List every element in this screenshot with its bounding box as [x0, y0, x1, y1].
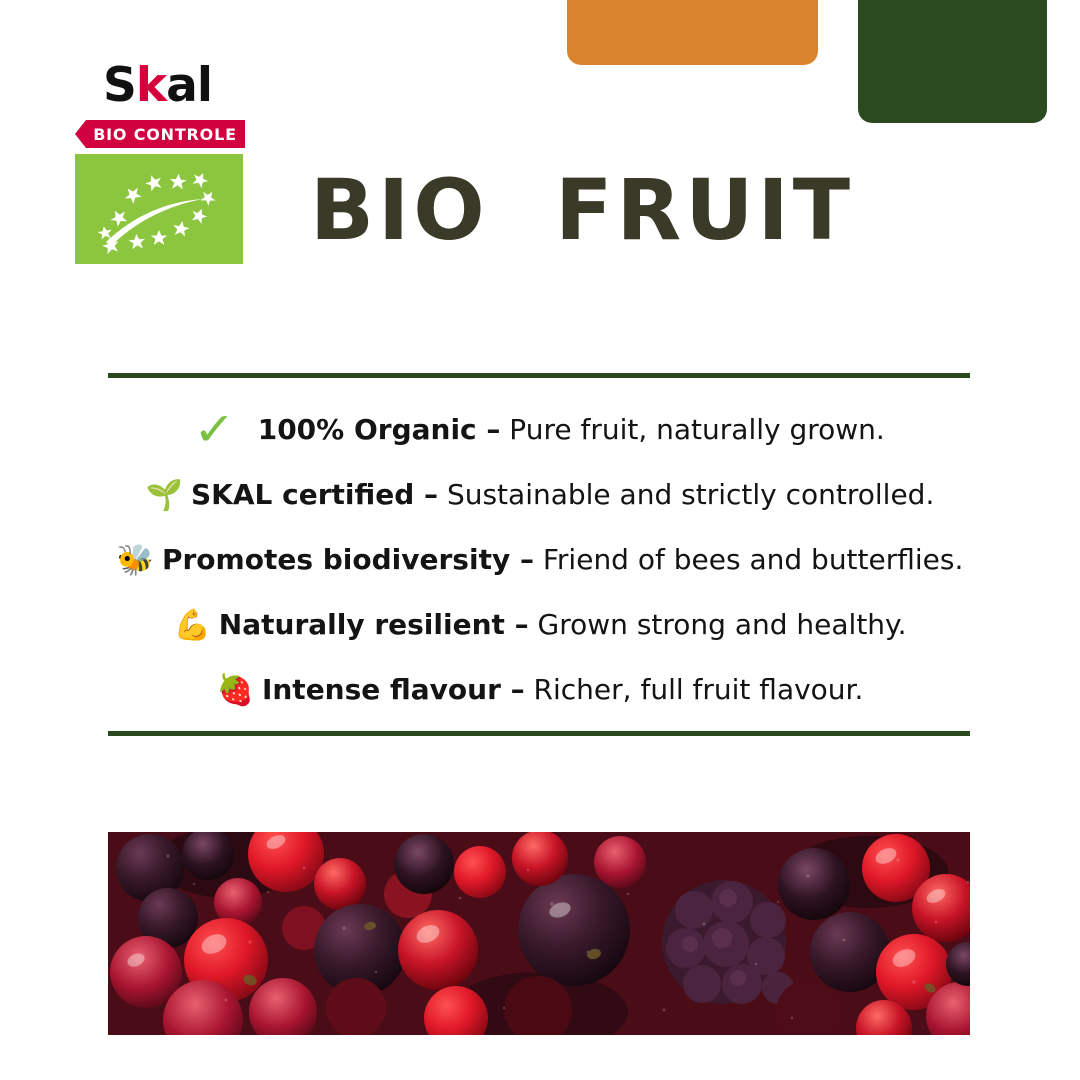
feature-rest: Richer, full fruit flavour. [525, 673, 864, 706]
seedling-icon: 🌱 [146, 481, 183, 511]
feature-item-text: SKAL certified – Sustainable and strictl… [191, 480, 934, 511]
skal-logo-lockup: Skal BIO CONTROLE [75, 62, 325, 264]
feature-item-text: Intense flavour – Richer, full fruit fla… [262, 675, 863, 706]
flexed-biceps-icon: 💪 [173, 611, 210, 641]
feature-rest: Pure fruit, naturally grown. [500, 413, 884, 446]
feature-item-biodiversity: 🐝 Promotes biodiversity – Friend of bees… [0, 528, 1080, 593]
feature-lead: Intense flavour – [262, 673, 525, 706]
divider-top [108, 373, 970, 378]
honeybee-icon: 🐝 [117, 546, 154, 576]
eu-organic-leaf-icon [75, 154, 243, 264]
feature-rest: Sustainable and strictly controlled. [438, 478, 934, 511]
skal-wordmark: Skal [103, 62, 353, 114]
feature-lead: Naturally resilient – [219, 608, 529, 641]
feature-item-resilient: 💪 Naturally resilient – Grown strong and… [0, 593, 1080, 658]
check-mark-icon: ✓ [193, 406, 235, 452]
feature-item-text: 100% Organic – Pure fruit, naturally gro… [258, 415, 885, 446]
frozen-mixed-berries-photo [108, 832, 970, 1035]
feature-item-text: Naturally resilient – Grown strong and h… [219, 610, 907, 641]
feature-lead: Promotes biodiversity – [162, 543, 534, 576]
skal-wordmark-k: k [136, 58, 166, 113]
page-title: BIO FRUIT [310, 168, 854, 252]
skal-wordmark-s: S [103, 58, 136, 113]
feature-item-text: Promotes biodiversity – Friend of bees a… [162, 545, 963, 576]
strawberry-icon: 🍓 [217, 676, 254, 706]
feature-lead: SKAL certified – [191, 478, 438, 511]
bio-controle-banner: BIO CONTROLE [75, 120, 245, 148]
feature-rest: Grown strong and healthy. [529, 608, 907, 641]
bio-controle-label: BIO CONTROLE [93, 125, 237, 144]
green-rounded-block [858, 0, 1047, 123]
skal-wordmark-al: al [166, 58, 212, 113]
divider-bottom [108, 731, 970, 736]
orange-rounded-block [567, 0, 818, 65]
feature-item-organic: ✓ 100% Organic – Pure fruit, naturally g… [0, 398, 1080, 463]
feature-item-flavour: 🍓 Intense flavour – Richer, full fruit f… [0, 658, 1080, 723]
feature-item-skal-certified: 🌱 SKAL certified – Sustainable and stric… [0, 463, 1080, 528]
feature-list: ✓ 100% Organic – Pure fruit, naturally g… [0, 398, 1080, 723]
feature-lead: 100% Organic – [258, 413, 501, 446]
feature-rest: Friend of bees and butterflies. [534, 543, 963, 576]
